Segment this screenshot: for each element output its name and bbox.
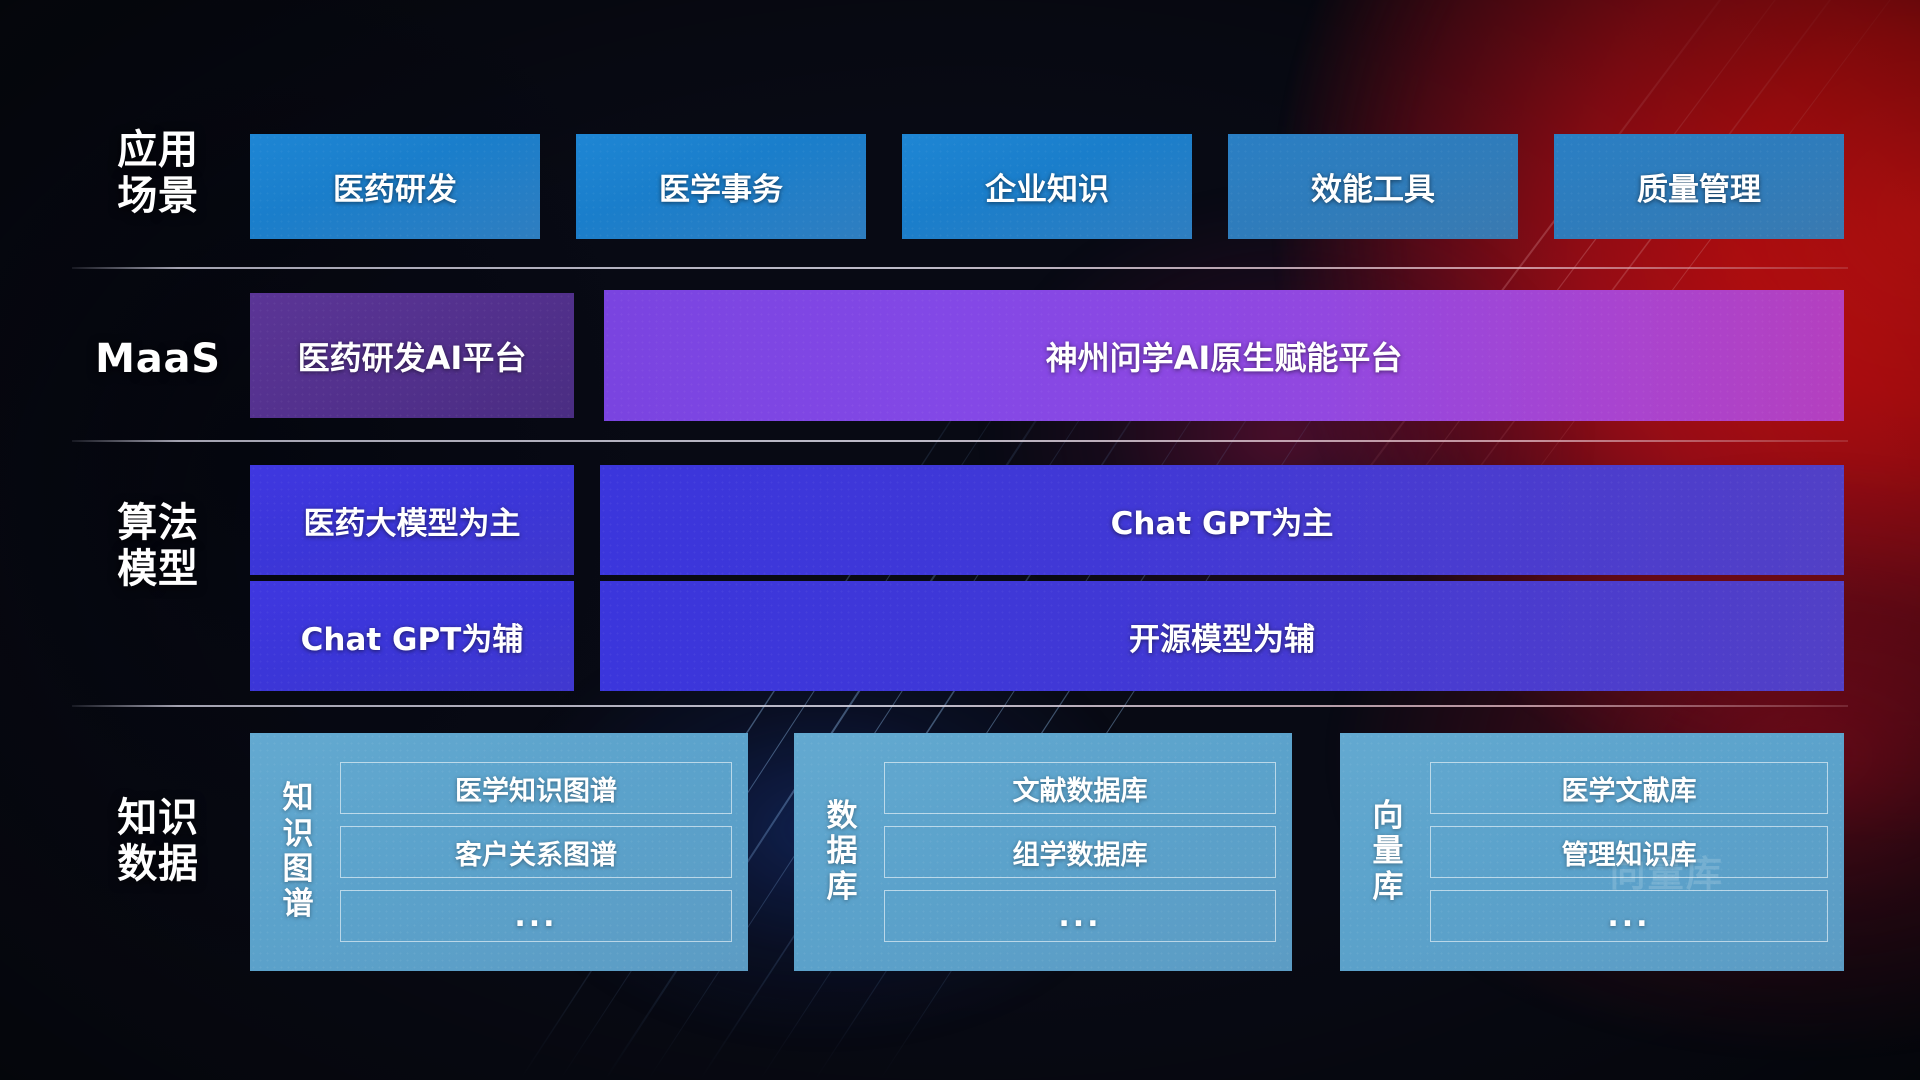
knowledge-panel-database: 数据库 文献数据库 组学数据库 ... bbox=[794, 733, 1292, 971]
knowledge-item-label: 医学文献库 bbox=[1562, 769, 1697, 808]
app-box-label: 医药研发 bbox=[333, 164, 457, 209]
app-box-quality-management[interactable]: 质量管理 bbox=[1554, 134, 1844, 239]
knowledge-item-label: 管理知识库 bbox=[1562, 833, 1697, 872]
knowledge-panel-items: 医学文献库 管理知识库 ... bbox=[1430, 762, 1828, 942]
knowledge-item-label: 客户关系图谱 bbox=[455, 833, 617, 872]
knowledge-item-label: 文献数据库 bbox=[1013, 769, 1148, 808]
row-label-algorithm-model: 算法 模型 bbox=[88, 500, 228, 593]
knowledge-item-more[interactable]: ... bbox=[340, 890, 732, 942]
knowledge-panel-knowledge-graph: 知识图谱 医学知识图谱 客户关系图谱 ... bbox=[250, 733, 748, 971]
knowledge-item[interactable]: 客户关系图谱 bbox=[340, 826, 732, 878]
knowledge-panel-label: 数据库 bbox=[814, 799, 870, 905]
divider-line-1 bbox=[72, 267, 1848, 269]
model-box-label: Chat GPT为辅 bbox=[301, 614, 524, 659]
knowledge-item-more[interactable]: ... bbox=[884, 890, 1276, 942]
app-box-label: 质量管理 bbox=[1637, 164, 1761, 209]
architecture-diagram: 应用 场景 医药研发 医学事务 企业知识 效能工具 质量管理 MaaS 医药研发… bbox=[0, 0, 1920, 1080]
knowledge-item[interactable]: 组学数据库 bbox=[884, 826, 1276, 878]
maas-box-pharma-ai-platform[interactable]: 医药研发AI平台 bbox=[250, 293, 574, 418]
model-box-label: Chat GPT为主 bbox=[1111, 498, 1334, 543]
app-box-medical-affairs[interactable]: 医学事务 bbox=[576, 134, 866, 239]
knowledge-item-label: 医学知识图谱 bbox=[455, 769, 617, 808]
knowledge-item-label: ... bbox=[1058, 899, 1101, 934]
knowledge-panel-items: 医学知识图谱 客户关系图谱 ... bbox=[340, 762, 732, 942]
knowledge-item-more[interactable]: ... bbox=[1430, 890, 1828, 942]
knowledge-item-label: ... bbox=[1607, 899, 1650, 934]
knowledge-panel-label: 知识图谱 bbox=[270, 781, 326, 922]
maas-box-label: 医药研发AI平台 bbox=[298, 333, 527, 379]
model-box-pharma-llm-primary[interactable]: 医药大模型为主 bbox=[250, 465, 574, 575]
model-box-chatgpt-secondary[interactable]: Chat GPT为辅 bbox=[250, 581, 574, 691]
row-label-application-scenarios: 应用 场景 bbox=[88, 127, 228, 220]
app-box-label: 效能工具 bbox=[1311, 164, 1435, 209]
app-box-label: 企业知识 bbox=[985, 164, 1109, 209]
knowledge-item-label: 组学数据库 bbox=[1013, 833, 1148, 872]
knowledge-item-label: ... bbox=[514, 899, 557, 934]
knowledge-panel-vector-store: 向量库 向量库 医学文献库 管理知识库 ... bbox=[1340, 733, 1844, 971]
row-label-knowledge-data: 知识 数据 bbox=[88, 795, 228, 888]
maas-box-shenzhou-wenxue-platform[interactable]: 神州问学AI原生赋能平台 bbox=[604, 290, 1844, 421]
model-box-chatgpt-primary[interactable]: Chat GPT为主 bbox=[600, 465, 1844, 575]
app-box-efficiency-tools[interactable]: 效能工具 bbox=[1228, 134, 1518, 239]
maas-box-label: 神州问学AI原生赋能平台 bbox=[1046, 333, 1403, 379]
model-box-label: 开源模型为辅 bbox=[1129, 614, 1315, 659]
app-box-pharma-rd[interactable]: 医药研发 bbox=[250, 134, 540, 239]
app-box-label: 医学事务 bbox=[659, 164, 783, 209]
model-box-open-source-secondary[interactable]: 开源模型为辅 bbox=[600, 581, 1844, 691]
model-box-label: 医药大模型为主 bbox=[304, 498, 521, 543]
knowledge-panel-items: 文献数据库 组学数据库 ... bbox=[884, 762, 1276, 942]
knowledge-item[interactable]: 管理知识库 bbox=[1430, 826, 1828, 878]
knowledge-item[interactable]: 医学知识图谱 bbox=[340, 762, 732, 814]
row-label-maas: MaaS bbox=[78, 336, 238, 382]
knowledge-item[interactable]: 医学文献库 bbox=[1430, 762, 1828, 814]
divider-line-3 bbox=[72, 705, 1848, 707]
knowledge-panel-label: 向量库 bbox=[1360, 799, 1416, 905]
knowledge-item[interactable]: 文献数据库 bbox=[884, 762, 1276, 814]
divider-line-2 bbox=[72, 440, 1848, 442]
app-box-enterprise-knowledge[interactable]: 企业知识 bbox=[902, 134, 1192, 239]
